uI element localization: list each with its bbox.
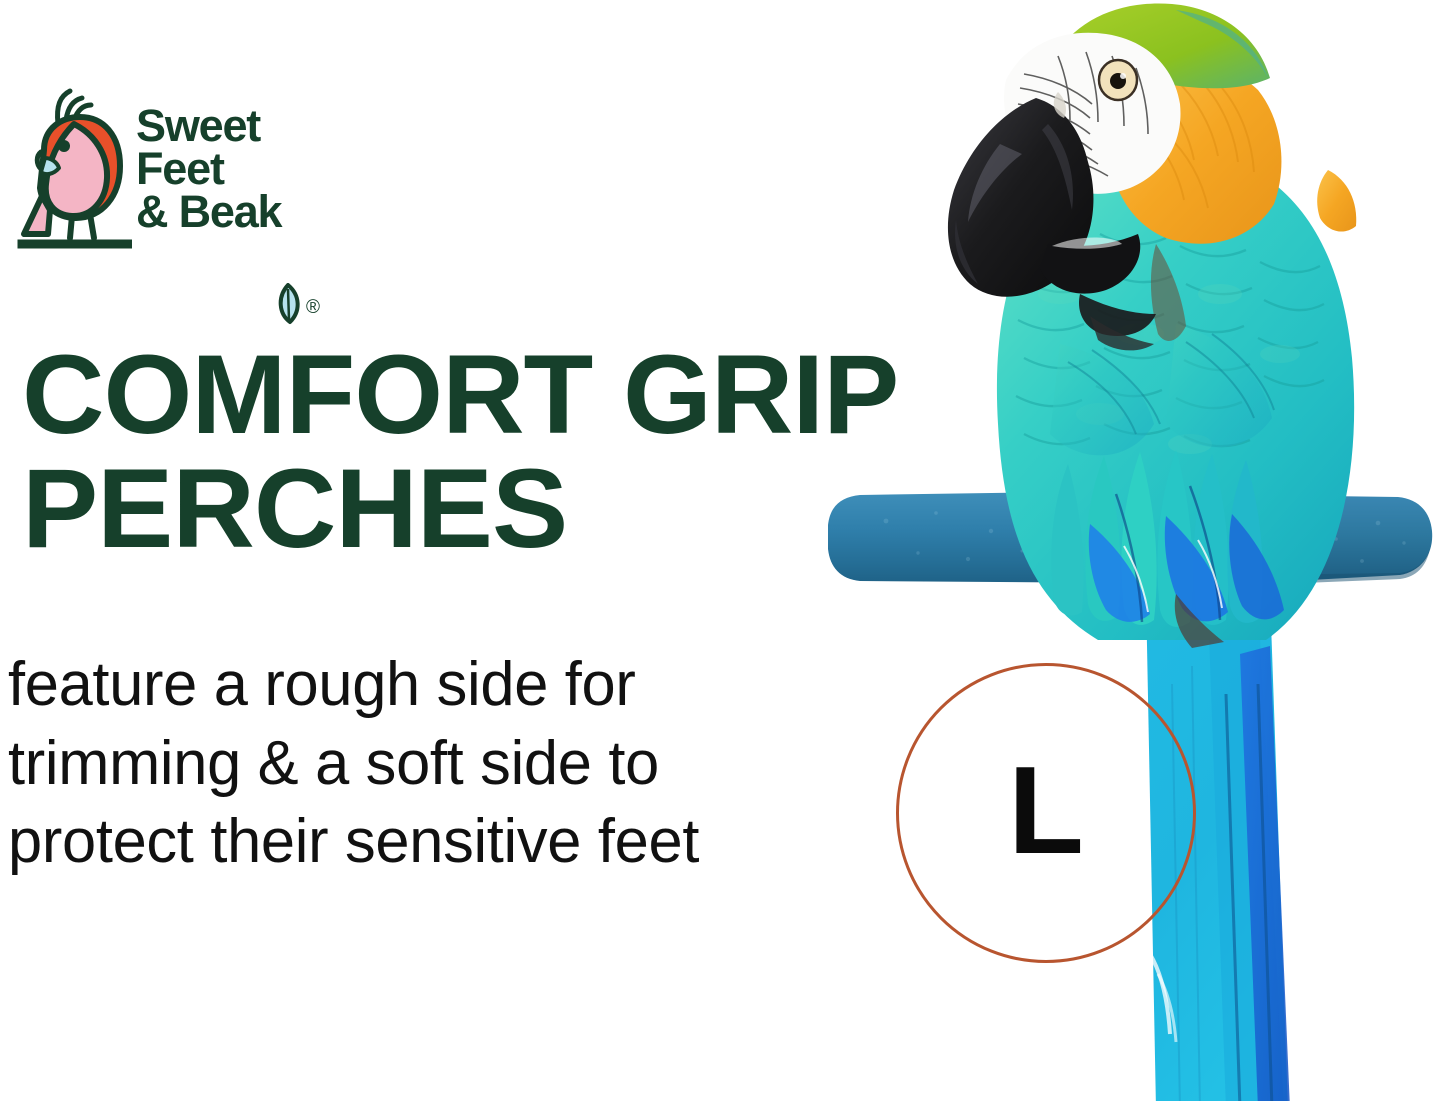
- product-description: feature a rough side for trimming & a so…: [8, 646, 798, 882]
- brand-wordmark-line-1: Sweet: [136, 104, 326, 147]
- brand-wordmark-line-3: & Beak: [136, 190, 326, 233]
- brand-wordmark: Sweet Feet & Beak: [136, 104, 326, 234]
- leaf-icon: [273, 283, 303, 325]
- macaw-shoulder-patch: [1317, 170, 1356, 232]
- size-badge-label: L: [899, 666, 1193, 960]
- brand-wordmark-line-2: Feet: [136, 147, 326, 190]
- description-line-1: feature a rough side for: [8, 646, 790, 725]
- brand-logo: Sweet Feet & Beak ®: [14, 84, 324, 264]
- registered-trademark-symbol: ®: [306, 298, 320, 317]
- headline-line-1: COMFORT GRIP: [22, 338, 1062, 452]
- parrot-logo-icon: [14, 84, 132, 262]
- description-line-2: trimming & a soft side to: [8, 725, 790, 804]
- product-marketing-image: Sweet Feet & Beak ® COMFORT GRIP PERCHES…: [0, 0, 1445, 1101]
- size-badge: L: [896, 663, 1196, 963]
- description-line-3: protect their sensitive feet: [8, 803, 790, 882]
